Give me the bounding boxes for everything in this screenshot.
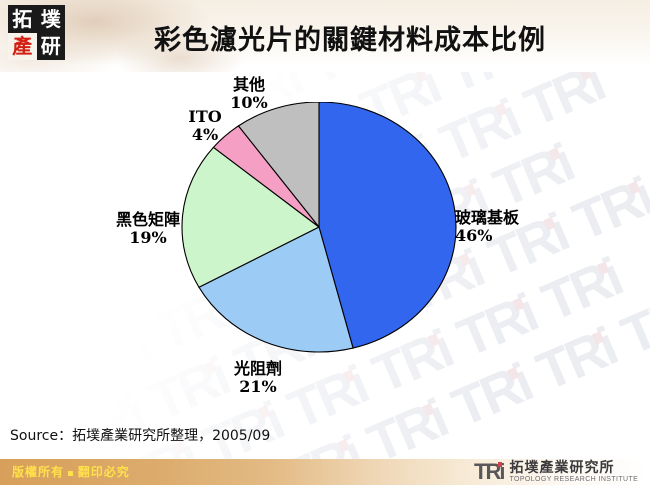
tri-brand-english: TOPOLOGY RESEARCH INSTITUTE xyxy=(509,476,638,483)
pie-label-value: 21% xyxy=(198,378,318,396)
tri-wordmark: TRi xyxy=(474,461,503,483)
logo-char-1: 拓 xyxy=(8,5,37,33)
logo-char-4: 研 xyxy=(37,33,66,61)
copyright-notice: 版權所有▪翻印必究 xyxy=(12,463,130,480)
pie-label-glass-substrate: 玻璃基板 46% xyxy=(455,209,519,245)
pie-label-black-matrix: 黑色矩陣 19% xyxy=(88,211,208,247)
pie-chart-svg xyxy=(170,102,470,392)
logo-char-3: 產 xyxy=(8,33,37,61)
source-note: Source：拓墣產業研究所整理，2005/09 xyxy=(10,425,270,445)
tri-footer-logo: TRi 拓墣產業研究所 TOPOLOGY RESEARCH INSTITUTE xyxy=(474,458,638,485)
pie-label-value: 46% xyxy=(455,227,519,245)
pie-label-ito: ITO 4% xyxy=(173,108,237,144)
copyright-left-text: 版權所有 xyxy=(12,465,64,479)
copyright-separator-icon: ▪ xyxy=(67,468,75,479)
pie-label-name: 黑色矩陣 xyxy=(88,211,208,229)
pie-label-value: 10% xyxy=(213,94,285,112)
pie-label-other: 其他 10% xyxy=(213,76,285,112)
slide-footer: 版權所有▪翻印必究 TRi 拓墣產業研究所 TOPOLOGY RESEARCH … xyxy=(0,459,650,485)
watermark-dot-icon xyxy=(338,439,351,453)
page-title: 彩色濾光片的關鍵材料成本比例 xyxy=(90,14,610,60)
tri-brand-chinese: 拓墣產業研究所 xyxy=(509,461,638,475)
pie-label-value: 19% xyxy=(88,229,208,247)
tri-dot-icon xyxy=(498,462,502,467)
tri-corner-logo: 拓 墣 產 研 xyxy=(8,5,65,60)
pie-label-name: 光阻劑 xyxy=(198,360,318,378)
pie-label-value: 4% xyxy=(173,126,237,144)
copyright-right-text: 翻印必究 xyxy=(78,465,130,479)
slide-canvas: TRiTRiTRiTRiTRiTRiTRiTRiTRiTRiTRiTRiTRiT… xyxy=(0,0,650,485)
tri-brand-text: 拓墣產業研究所 TOPOLOGY RESEARCH INSTITUTE xyxy=(509,461,638,483)
pie-label-photoresist: 光阻劑 21% xyxy=(198,360,318,396)
pie-chart: 玻璃基板 46% 光阻劑 21% 黑色矩陣 19% ITO 4% 其他 10% xyxy=(0,72,650,417)
pie-label-name: 其他 xyxy=(213,76,285,94)
logo-char-2: 墣 xyxy=(37,5,66,33)
slide-header: 拓 墣 產 研 彩色濾光片的關鍵材料成本比例 xyxy=(0,0,650,72)
pie-label-name: 玻璃基板 xyxy=(455,209,519,227)
